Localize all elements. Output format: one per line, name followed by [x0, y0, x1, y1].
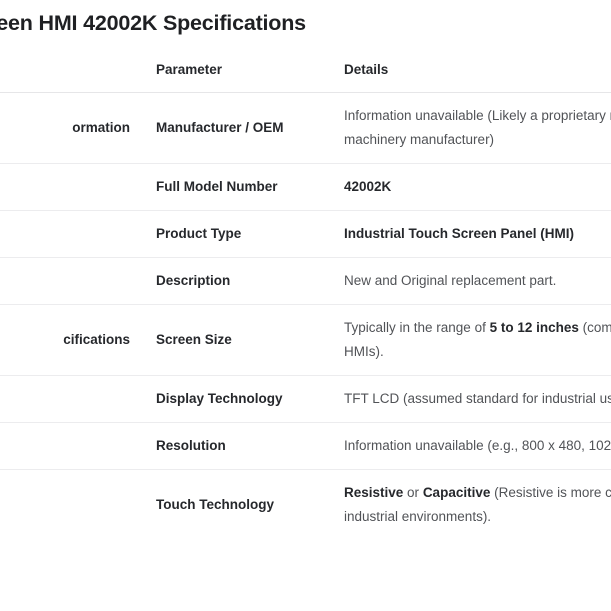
details-text-fragment: Capacitive [423, 485, 491, 500]
table-header: Parameter Details [0, 55, 611, 93]
row-group-label [0, 423, 144, 470]
details-text-fragment: Typically in the range of [344, 320, 490, 335]
details-text-fragment: 5 to 12 inches [490, 320, 579, 335]
row-details-value: Information unavailable (Likely a propri… [332, 93, 611, 164]
row-details-value: TFT LCD (assumed standard for industrial… [332, 376, 611, 423]
row-parameter-label: Description [144, 258, 332, 305]
details-text-fragment: 42002K [344, 179, 391, 194]
column-header-details: Details [332, 55, 611, 93]
row-details-value: Industrial Touch Screen Panel (HMI) [332, 211, 611, 258]
document-body: l Touch Screen HMI 42002K Specifications… [0, 0, 611, 540]
table-header-row: Parameter Details [0, 55, 611, 93]
row-parameter-label: Display Technology [144, 376, 332, 423]
details-text-fragment: Information unavailable (e.g., 800 x 480… [344, 438, 611, 453]
row-group-label [0, 470, 144, 541]
row-parameter-label: Touch Technology [144, 470, 332, 541]
row-group-label: cifications [0, 305, 144, 376]
row-group-label [0, 258, 144, 305]
row-parameter-label: Resolution [144, 423, 332, 470]
page-title: l Touch Screen HMI 42002K Specifications [0, 0, 611, 38]
table-row: Touch TechnologyResistive or Capacitive … [0, 470, 611, 541]
row-parameter-label: Manufacturer / OEM [144, 93, 332, 164]
row-group-label [0, 211, 144, 258]
row-group-label [0, 376, 144, 423]
details-text-fragment: TFT LCD (assumed standard for industrial… [344, 391, 611, 406]
table-row: ResolutionInformation unavailable (e.g.,… [0, 423, 611, 470]
details-text-fragment: or [403, 485, 423, 500]
row-details-value: 42002K [332, 164, 611, 211]
table-row: Product TypeIndustrial Touch Screen Pane… [0, 211, 611, 258]
table-row: Full Model Number42002K [0, 164, 611, 211]
table-row: Display TechnologyTFT LCD (assumed stand… [0, 376, 611, 423]
row-group-label [0, 164, 144, 211]
details-text-fragment: Industrial Touch Screen Panel (HMI) [344, 226, 574, 241]
table-row: cificationsScreen SizeTypically in the r… [0, 305, 611, 376]
column-header-group [0, 55, 144, 93]
column-header-parameter: Parameter [144, 55, 332, 93]
row-parameter-label: Full Model Number [144, 164, 332, 211]
document-viewport: l Touch Screen HMI 42002K Specifications… [0, 0, 611, 611]
details-text-fragment: Resistive [344, 485, 403, 500]
row-details-value: New and Original replacement part. [332, 258, 611, 305]
row-details-value: Resistive or Capacitive (Resistive is mo… [332, 470, 611, 541]
table-body: ormationManufacturer / OEMInformation un… [0, 93, 611, 541]
table-row: ormationManufacturer / OEMInformation un… [0, 93, 611, 164]
row-details-value: Typically in the range of 5 to 12 inches… [332, 305, 611, 376]
table-row: DescriptionNew and Original replacement … [0, 258, 611, 305]
specifications-table: Parameter Details ormationManufacturer /… [0, 55, 611, 540]
row-details-value: Information unavailable (e.g., 800 x 480… [332, 423, 611, 470]
row-parameter-label: Product Type [144, 211, 332, 258]
row-group-label: ormation [0, 93, 144, 164]
row-parameter-label: Screen Size [144, 305, 332, 376]
details-text-fragment: New and Original replacement part. [344, 273, 556, 288]
details-text-fragment: Information unavailable (Likely a propri… [344, 108, 611, 147]
